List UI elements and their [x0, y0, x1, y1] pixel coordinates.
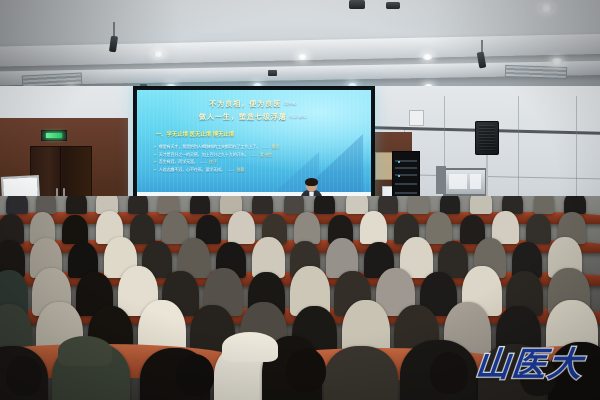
audience-member: [284, 196, 304, 214]
bullet-marker-icon: ➢: [153, 152, 156, 157]
ceiling-shading: [0, 0, 600, 96]
audience-hood: [222, 332, 278, 362]
slide-bullet-list: ➢ 哪里有天才，我是把别人喝咖啡的工夫都用在了工作上了。 —— 鲁迅 ➢ 天才是…: [153, 144, 359, 174]
audience-member: [6, 196, 28, 214]
audience-member: [314, 196, 335, 214]
bullet-source: 张载: [237, 167, 245, 173]
audience-head-foreground: [176, 354, 214, 396]
audience-head-foreground: [430, 352, 468, 394]
slide-bullet-item: ➢ 人若志趣不远，心不在焉，虽学无成。 —— 张载: [153, 167, 359, 173]
bullet-dash: ——: [200, 160, 208, 164]
wall-loudspeaker: [475, 121, 499, 155]
slide-section-heading: 一、学无止境 医无止境 博无止境: [156, 130, 234, 138]
audience-member: [66, 196, 87, 214]
bullet-text: 天才是百分之一的灵感，加上百分之九十九的汗水。: [159, 152, 249, 158]
loudspeaker-grille: [479, 125, 496, 151]
slide-title-line-2: 做人一生，塑造七级浮屠（礼记·曲礼）: [137, 112, 371, 122]
wall-picture-frame: [409, 110, 424, 126]
exit-sign: [41, 130, 67, 141]
bullet-source: 爱·迪生: [260, 152, 273, 158]
audience-member: [252, 196, 273, 214]
bullet-source: 鲁迅: [272, 144, 280, 150]
audience-hood: [58, 336, 112, 366]
bullet-marker-icon: ➢: [153, 144, 156, 149]
rack-unit: [395, 192, 417, 194]
bullet-text: 人若志趣不远，心不在焉，虽学无成。: [159, 167, 225, 173]
slide-title-attribution: （礼记·曲礼）: [287, 115, 309, 119]
bullet-marker-icon: ➢: [153, 167, 156, 172]
slide-bullet-item: ➢ 哪里有天才，我是把别人喝咖啡的工夫都用在了工作上了。 —— 鲁迅: [153, 144, 359, 150]
bullet-dash: ——: [262, 145, 270, 149]
audience-member: [440, 196, 460, 214]
booth-glass: [449, 174, 467, 189]
slide-title-line-1: 不为良相，便为良医（范仲淹）: [137, 99, 371, 109]
slide-title-attribution: （范仲淹）: [281, 102, 299, 106]
audience-member: [360, 211, 387, 244]
audience-member: [534, 196, 554, 214]
audience-member: [378, 196, 398, 214]
bullet-text: 哪里有天才，我是把别人喝咖啡的工夫都用在了工作上了。: [159, 144, 260, 150]
booth-window-sill: [436, 166, 446, 194]
wall-panel-seam: [576, 96, 577, 212]
audience-member: [62, 215, 88, 244]
rack-unit: [395, 183, 417, 185]
lecture-hall-photo: 不为良相，便为良医（范仲淹） 做人一生，塑造七级浮屠（礼记·曲礼） 一、学无止境…: [0, 0, 600, 400]
slide-content: 不为良相，便为良医（范仲淹） 做人一生，塑造七级浮屠（礼记·曲礼） 一、学无止境…: [137, 90, 371, 212]
slide-bullet-item: ➢ 吾生有涯，而学无涯。 —— 庄子: [153, 159, 359, 165]
lecturer-hair: [305, 178, 318, 186]
audience-member: [294, 212, 320, 244]
audience-member: [190, 196, 210, 214]
bullet-text: 吾生有涯，而学无涯。: [159, 159, 198, 165]
watermark-logo: 山医大: [473, 337, 586, 386]
audience-head-foreground: [286, 348, 326, 392]
audience-member: [470, 196, 492, 214]
bullet-dash: ——: [250, 153, 258, 157]
audience-member: [128, 196, 148, 214]
audience-member: [346, 196, 368, 214]
rack-status-led: [398, 175, 400, 177]
rack-status-led: [398, 161, 400, 163]
audience-head-foreground: [6, 356, 42, 396]
audience-member: [162, 212, 188, 244]
audience-member: [526, 214, 551, 244]
audience-member: [426, 212, 452, 244]
bullet-dash: ——: [227, 168, 235, 172]
audience-member: [130, 214, 155, 244]
slide-title-main: 不为良相，便为良医: [209, 101, 281, 108]
slide-bullet-item: ➢ 天才是百分之一的灵感，加上百分之九十九的汗水。 —— 爱·迪生: [153, 152, 359, 158]
bullet-source: 庄子: [209, 159, 217, 165]
bullet-marker-icon: ➢: [153, 159, 156, 164]
booth-glass: [470, 174, 481, 189]
audience-member: [228, 211, 255, 244]
control-booth-window: [443, 168, 487, 196]
audience-member-foreground: [324, 346, 398, 400]
exit-sign-icon: [46, 133, 63, 138]
audience-member: [408, 196, 429, 214]
rack-unit: [395, 167, 417, 169]
slide-title-main: 做人一生，塑造七级浮屠: [199, 114, 287, 121]
